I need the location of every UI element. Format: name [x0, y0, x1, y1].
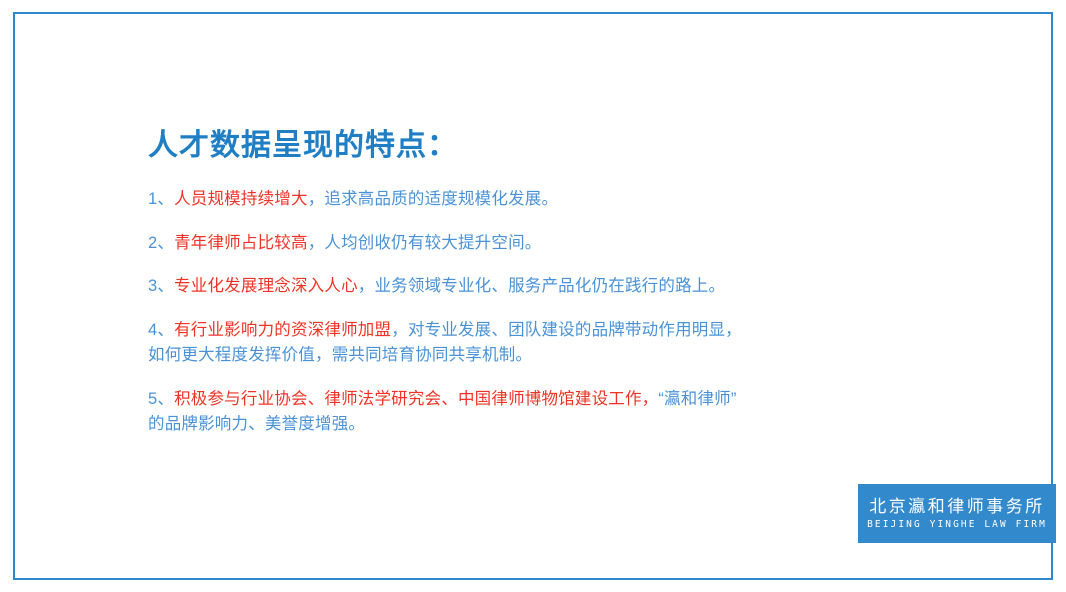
list-item-line: 3、专业化发展理念深入人心，业务领域专业化、服务产品化仍在践行的路上。: [148, 274, 948, 300]
list-item-line: 2、青年律师占比较高，人均创收仍有较大提升空间。: [148, 231, 948, 257]
page-title: 人才数据呈现的特点：: [148, 126, 948, 165]
list-item: 4、有行业影响力的资深律师加盟，对专业发展、团队建设的品牌带动作用明显，如何更大…: [148, 318, 948, 369]
list-item-number: 3、: [148, 277, 174, 295]
slide-content: 人才数据呈现的特点： 1、人员规模持续增大，追求高品质的适度规模化发展。2、青年…: [148, 126, 948, 438]
list-item-number: 2、: [148, 234, 174, 252]
list-item-line: 5、积极参与行业协会、律师法学研究会、中国律师博物馆建设工作，“瀛和律师”: [148, 387, 948, 413]
list-item-number: 1、: [148, 190, 174, 208]
highlighted-text: 有行业影响力的资深律师加盟: [174, 321, 391, 339]
body-text: ，业务领域专业化、服务产品化仍在践行的路上。: [358, 277, 725, 295]
list-item-line: 1、人员规模持续增大，追求高品质的适度规模化发展。: [148, 187, 948, 213]
highlighted-text: 积极参与行业协会、律师法学研究会、中国律师博物馆建设工作，: [174, 390, 658, 408]
bullet-list: 1、人员规模持续增大，追求高品质的适度规模化发展。2、青年律师占比较高，人均创收…: [148, 187, 948, 438]
body-text: ，人均创收仍有较大提升空间。: [308, 234, 542, 252]
highlighted-text: 专业化发展理念深入人心: [174, 277, 358, 295]
list-item-number: 5、: [148, 390, 174, 408]
company-logo-badge: 北京瀛和律师事务所 BEIJING YINGHE LAW FIRM: [858, 484, 1056, 543]
list-item: 3、专业化发展理念深入人心，业务领域专业化、服务产品化仍在践行的路上。: [148, 274, 948, 300]
logo-english-name: BEIJING YINGHE LAW FIRM: [867, 519, 1047, 530]
list-item-line: 的品牌影响力、美誉度增强。: [148, 412, 948, 438]
body-text: “瀛和律师”: [658, 390, 736, 408]
list-item-line: 如何更大程度发挥价值，需共同培育协同共享机制。: [148, 343, 948, 369]
highlighted-text: 人员规模持续增大: [174, 190, 308, 208]
logo-chinese-name: 北京瀛和律师事务所: [869, 496, 1045, 517]
list-item-number: 4、: [148, 321, 174, 339]
highlighted-text: 青年律师占比较高: [174, 234, 308, 252]
body-text: ，追求高品质的适度规模化发展。: [308, 190, 559, 208]
list-item-line: 4、有行业影响力的资深律师加盟，对专业发展、团队建设的品牌带动作用明显，: [148, 318, 948, 344]
list-item: 1、人员规模持续增大，追求高品质的适度规模化发展。: [148, 187, 948, 213]
list-item: 2、青年律师占比较高，人均创收仍有较大提升空间。: [148, 231, 948, 257]
list-item: 5、积极参与行业协会、律师法学研究会、中国律师博物馆建设工作，“瀛和律师”的品牌…: [148, 387, 948, 438]
body-text: 的品牌影响力、美誉度增强。: [148, 415, 365, 433]
body-text: 如何更大程度发挥价值，需共同培育协同共享机制。: [148, 346, 532, 364]
slide-canvas: 人才数据呈现的特点： 1、人员规模持续增大，追求高品质的适度规模化发展。2、青年…: [0, 0, 1066, 592]
body-text: ，对专业发展、团队建设的品牌带动作用明显，: [391, 321, 742, 339]
